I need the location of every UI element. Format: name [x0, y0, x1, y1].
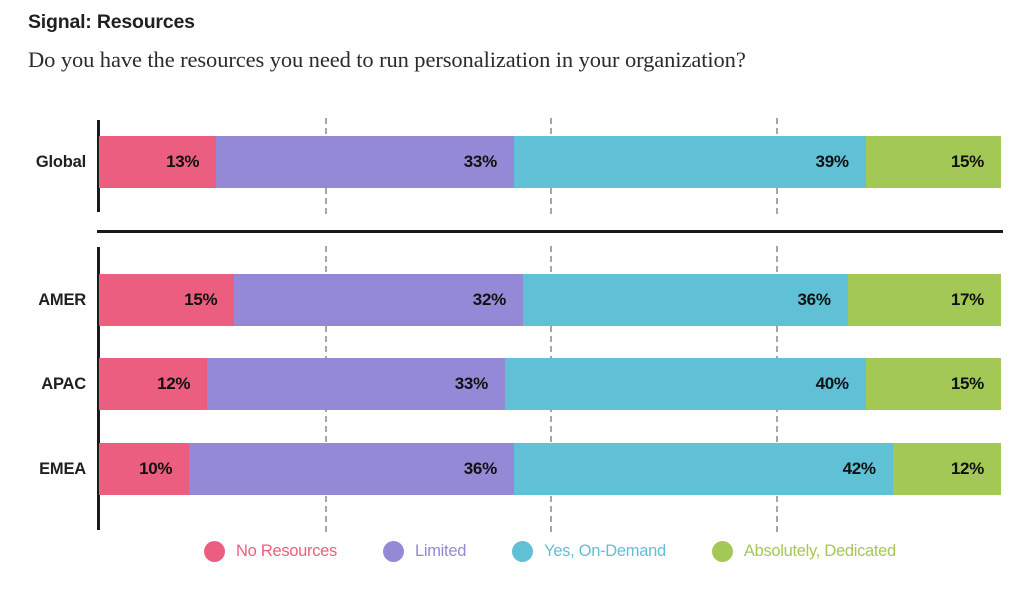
row-label-amer: AMER	[0, 274, 86, 326]
bar-segment-global-3: 15%	[866, 136, 1001, 188]
bar-segment-apac-2: 40%	[505, 358, 866, 410]
legend-item-1[interactable]: Limited	[383, 541, 466, 562]
legend-label: Limited	[415, 542, 466, 561]
stacked-bar-emea: 10%36%42%12%	[99, 443, 1001, 495]
row-label-emea: EMEA	[0, 443, 86, 495]
bar-segment-emea-2: 42%	[514, 443, 893, 495]
bar-segment-amer-3: 17%	[848, 274, 1001, 326]
bar-segment-amer-0: 15%	[99, 274, 234, 326]
bar-segment-apac-0: 12%	[99, 358, 207, 410]
legend-swatch-icon	[204, 541, 225, 562]
stacked-bar-apac: 12%33%40%15%	[99, 358, 1001, 410]
bar-segment-global-2: 39%	[514, 136, 866, 188]
legend-swatch-icon	[383, 541, 404, 562]
legend-swatch-icon	[512, 541, 533, 562]
legend-swatch-icon	[712, 541, 733, 562]
bar-segment-global-1: 33%	[216, 136, 514, 188]
legend-label: Yes, On-Demand	[544, 542, 666, 561]
section-divider	[97, 230, 1003, 233]
legend-label: Absolutely, Dedicated	[744, 542, 896, 561]
bar-segment-amer-1: 32%	[234, 274, 523, 326]
bar-segment-amer-2: 36%	[523, 274, 848, 326]
stacked-bar-global: 13%33%39%15%	[99, 136, 1001, 188]
legend-item-2[interactable]: Yes, On-Demand	[512, 541, 666, 562]
bar-segment-emea-3: 12%	[893, 443, 1001, 495]
bar-segment-global-0: 13%	[99, 136, 216, 188]
stacked-bar-amer: 15%32%36%17%	[99, 274, 1001, 326]
legend-item-3[interactable]: Absolutely, Dedicated	[712, 541, 896, 562]
row-label-global: Global	[0, 136, 86, 188]
chart-legend: No ResourcesLimitedYes, On-DemandAbsolut…	[97, 541, 1003, 562]
bar-segment-apac-1: 33%	[207, 358, 505, 410]
legend-label: No Resources	[236, 542, 337, 561]
bar-segment-apac-3: 15%	[866, 358, 1001, 410]
row-label-apac: APAC	[0, 358, 86, 410]
bar-segment-emea-0: 10%	[99, 443, 189, 495]
legend-item-0[interactable]: No Resources	[204, 541, 337, 562]
stacked-bar-chart: Global 13%33%39%15% AMER 15%32%36%17% AP…	[0, 0, 1024, 595]
bar-segment-emea-1: 36%	[189, 443, 514, 495]
